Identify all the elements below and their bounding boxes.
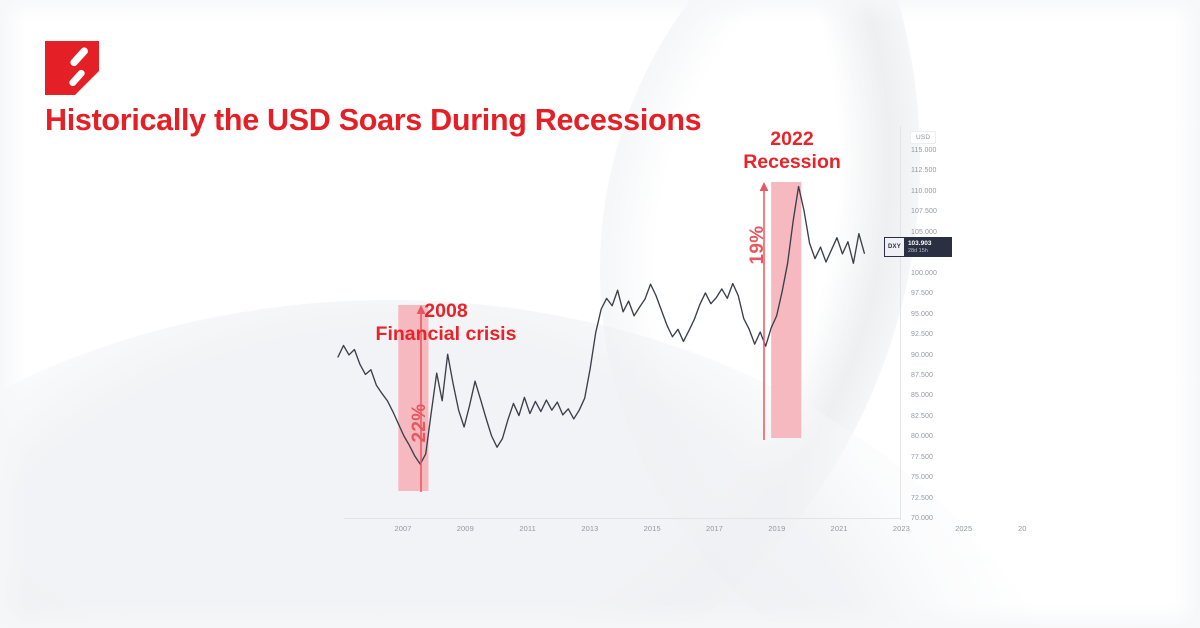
price-tick: 77.500 bbox=[911, 454, 933, 461]
time-tick: 2019 bbox=[768, 524, 785, 533]
price-scale-currency-label: USD bbox=[910, 131, 936, 144]
gain-label-2022: 19% bbox=[747, 223, 769, 267]
price-scale-axis[interactable]: USD 115.000112.500110.000107.500105.0001… bbox=[900, 126, 963, 520]
gain-label-2008: 22% bbox=[409, 401, 431, 445]
symbol-tag: DXY bbox=[884, 237, 904, 257]
time-tick: 2021 bbox=[831, 524, 848, 533]
price-tick: 107.500 bbox=[911, 208, 937, 215]
price-tick: 110.000 bbox=[911, 188, 936, 195]
bar-countdown: 28d 15h bbox=[908, 248, 948, 255]
highlight-band-2022 bbox=[771, 182, 801, 438]
time-tick: 2025 bbox=[955, 524, 972, 533]
annotation-2022-caption: Recession bbox=[712, 151, 872, 174]
price-tick: 92.500 bbox=[911, 331, 933, 338]
time-tick: 2013 bbox=[581, 524, 598, 533]
poster-canvas: Historically the USD Soars During Recess… bbox=[0, 0, 1200, 628]
price-tick: 115.000 bbox=[911, 147, 936, 154]
price-tick: 95.000 bbox=[911, 311, 933, 318]
annotation-2008-caption: Financial crisis bbox=[366, 323, 526, 346]
time-tick: 2007 bbox=[394, 524, 411, 533]
price-tick: 80.000 bbox=[911, 433, 933, 440]
price-tick: 112.500 bbox=[911, 167, 936, 174]
annotation-2022-year: 2022 bbox=[712, 128, 872, 151]
price-tick: 97.500 bbox=[911, 290, 933, 297]
price-tick: 100.000 bbox=[911, 270, 937, 277]
time-tick: 2017 bbox=[706, 524, 723, 533]
time-tick: 2011 bbox=[519, 524, 536, 533]
price-tick: 70.000 bbox=[911, 515, 933, 522]
annotation-2022: 2022 Recession bbox=[712, 128, 872, 174]
price-tick: 85.000 bbox=[911, 392, 933, 399]
time-tick: 2015 bbox=[644, 524, 661, 533]
time-tick: 2009 bbox=[457, 524, 474, 533]
time-axis[interactable]: 2007200920112013201520172019202120232025… bbox=[344, 518, 900, 519]
price-tick: 82.500 bbox=[911, 413, 933, 420]
price-tick: 87.500 bbox=[911, 372, 933, 379]
gain-arrow-2022 bbox=[760, 182, 769, 440]
current-price-value: 103.903 bbox=[908, 240, 948, 248]
price-tick: 90.000 bbox=[911, 352, 933, 359]
current-price-badge[interactable]: DXY 103.903 28d 15h bbox=[884, 237, 952, 257]
price-box: 103.903 28d 15h bbox=[904, 237, 952, 257]
brand-logo-icon bbox=[45, 41, 99, 95]
annotation-2008: 2008 Financial crisis bbox=[366, 300, 526, 346]
time-tick-clipped: 20 bbox=[1018, 524, 1027, 533]
time-tick: 2023 bbox=[893, 524, 910, 533]
price-tick: 72.500 bbox=[911, 495, 933, 502]
price-tick: 75.000 bbox=[911, 474, 933, 481]
price-tick: 105.000 bbox=[911, 229, 937, 236]
annotation-2008-year: 2008 bbox=[366, 300, 526, 323]
